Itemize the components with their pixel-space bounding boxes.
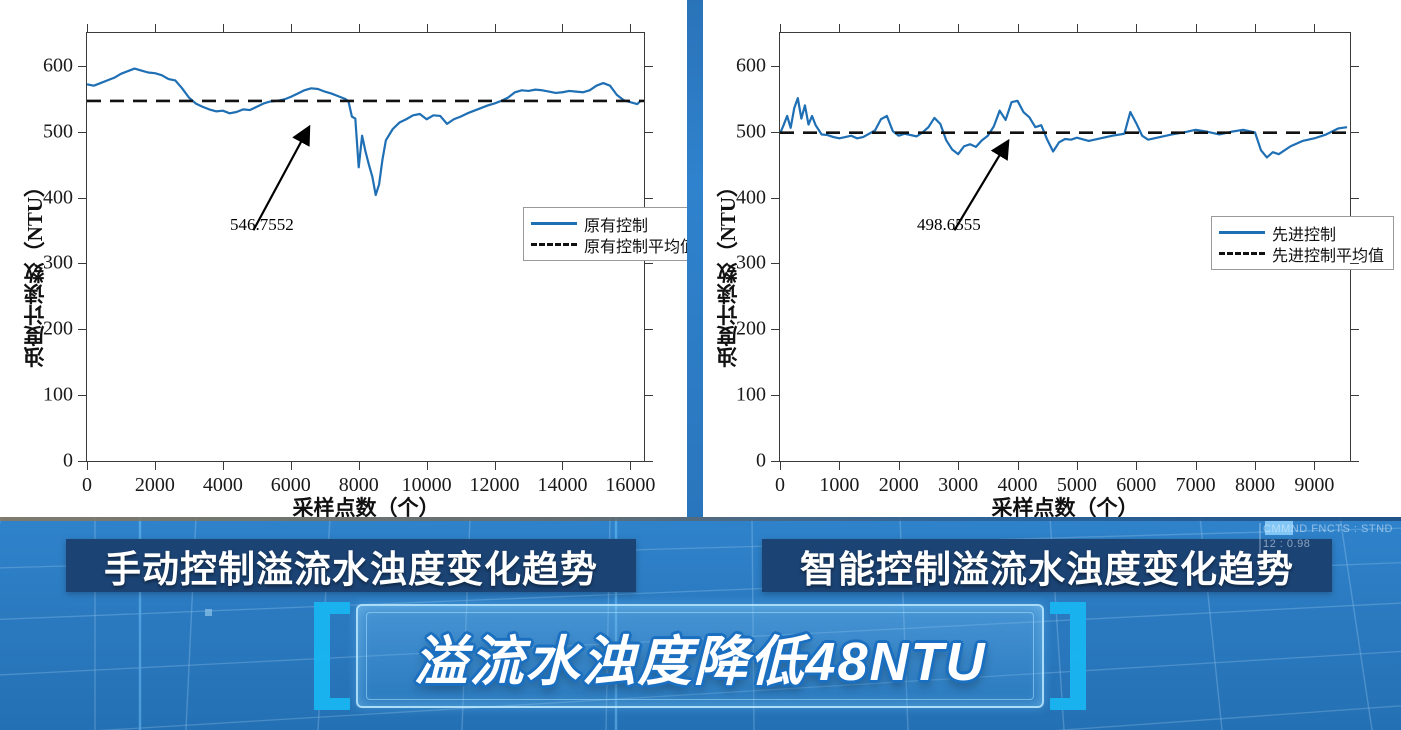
hud-line-1: CMMND FNCTS : STND <box>1263 523 1393 535</box>
y-tick <box>78 66 87 67</box>
banner-top-edge <box>0 517 1401 521</box>
y-tick <box>644 66 653 67</box>
legend-left[interactable]: 原有控制 原有控制平均值 <box>523 207 706 261</box>
x-tick-label: 12000 <box>470 474 520 497</box>
x-tick-label: 7000 <box>1176 474 1216 497</box>
y-tick-label: 100 <box>736 384 766 407</box>
y-tick <box>1350 461 1359 462</box>
y-tick-label: 300 <box>736 252 766 275</box>
caption-smart: 智能控制溢流水浊度变化趋势 <box>762 539 1332 592</box>
legend-right[interactable]: 先进控制 先进控制平均值 <box>1211 216 1394 270</box>
y-tick <box>78 461 87 462</box>
x-tick <box>630 24 631 33</box>
x-tick <box>495 24 496 33</box>
legend-line-solid-icon <box>531 222 577 225</box>
legend-label: 原有控制平均值 <box>584 233 696 257</box>
legend-row: 原有控制平均值 <box>531 234 696 255</box>
x-tick <box>780 461 781 470</box>
y-tick <box>1350 198 1359 199</box>
x-tick <box>223 461 224 470</box>
screenshot-root: 浊度计读数（NTU） 采样点数（个） <box>0 0 1401 730</box>
x-tick-label: 14000 <box>537 474 587 497</box>
y-tick-label: 200 <box>43 318 73 341</box>
y-tick <box>78 263 87 264</box>
hud-overlay: CMMND FNCTS : STND 12 : 0.98 <box>1263 523 1393 550</box>
x-tick-label: 4000 <box>998 474 1038 497</box>
x-tick <box>562 24 563 33</box>
x-tick <box>87 461 88 470</box>
x-tick <box>958 461 959 470</box>
y-tick <box>78 329 87 330</box>
y-tick <box>644 198 653 199</box>
legend-row: 先进控制平均值 <box>1219 243 1384 264</box>
x-tick <box>87 24 88 33</box>
y-tick <box>771 132 780 133</box>
x-tick <box>1196 24 1197 33</box>
hud-line-2: 12 : 0.98 <box>1263 538 1393 550</box>
x-tick <box>899 24 900 33</box>
y-tick <box>1350 329 1359 330</box>
x-tick <box>427 24 428 33</box>
x-tick <box>1077 24 1078 33</box>
y-tick <box>1350 66 1359 67</box>
y-tick-label: 600 <box>736 54 766 77</box>
y-tick <box>644 263 653 264</box>
x-tick-label: 8000 <box>1235 474 1275 497</box>
legend-row: 原有控制 <box>531 213 696 234</box>
x-tick <box>291 461 292 470</box>
annotation-value-left: 546.7552 <box>230 215 294 235</box>
x-tick-label: 2000 <box>879 474 919 497</box>
x-tick-label: 6000 <box>1116 474 1156 497</box>
hud-divider-icon <box>1259 523 1261 553</box>
charts-area: 浊度计读数（NTU） 采样点数（个） <box>0 0 1401 517</box>
headline-text: 溢流水浊度降低48NTU <box>300 598 1100 714</box>
y-tick-label: 500 <box>43 120 73 143</box>
x-tick-label: 3000 <box>938 474 978 497</box>
y-tick-label: 400 <box>736 186 766 209</box>
caption-manual: 手动控制溢流水浊度变化趋势 <box>66 539 636 592</box>
y-tick <box>78 132 87 133</box>
chart-panel-smart: 浊度计读数（NTU） 采样点数（个） <box>703 0 1401 517</box>
y-tick <box>1350 132 1359 133</box>
x-tick-label: 2000 <box>135 474 175 497</box>
x-tick-label: 10000 <box>402 474 452 497</box>
y-tick-label: 500 <box>736 120 766 143</box>
plot-area-smart: 先进控制 先进控制平均值 010020030040050060001000200… <box>779 32 1351 462</box>
x-tick-label: 6000 <box>271 474 311 497</box>
x-tick <box>223 24 224 33</box>
legend-label: 先进控制平均值 <box>1272 242 1384 266</box>
x-tick <box>839 461 840 470</box>
x-tick <box>427 461 428 470</box>
x-tick <box>780 24 781 33</box>
y-tick-label: 0 <box>63 450 73 473</box>
chart-panel-manual: 浊度计读数（NTU） 采样点数（个） <box>0 0 687 517</box>
legend-line-dashed-icon <box>531 243 577 246</box>
x-tick <box>155 461 156 470</box>
y-tick <box>1350 263 1359 264</box>
x-tick <box>630 461 631 470</box>
x-tick-label: 5000 <box>1057 474 1097 497</box>
x-tick <box>1018 461 1019 470</box>
x-tick <box>1255 461 1256 470</box>
x-tick <box>359 24 360 33</box>
figure-smart: 浊度计读数（NTU） 采样点数（个） <box>703 0 1401 517</box>
y-tick <box>771 263 780 264</box>
x-tick <box>291 24 292 33</box>
y-tick <box>771 198 780 199</box>
y-tick-label: 100 <box>43 384 73 407</box>
x-tick-label: 16000 <box>605 474 655 497</box>
legend-row: 先进控制 <box>1219 222 1384 243</box>
caption-smart-text: 智能控制溢流水浊度变化趋势 <box>800 539 1294 593</box>
legend-line-dashed-icon <box>1219 252 1265 255</box>
y-tick <box>78 198 87 199</box>
y-tick <box>644 329 653 330</box>
x-tick <box>839 24 840 33</box>
x-tick <box>495 461 496 470</box>
annotation-value-right: 498.6555 <box>917 215 981 235</box>
y-tick-label: 400 <box>43 186 73 209</box>
y-tick-label: 0 <box>756 450 766 473</box>
plot-area-manual: 原有控制 原有控制平均值 010020030040050060002000400… <box>86 32 645 462</box>
x-tick <box>1314 24 1315 33</box>
x-tick-label: 4000 <box>203 474 243 497</box>
y-tick <box>78 395 87 396</box>
y-tick <box>771 329 780 330</box>
figure-manual: 浊度计读数（NTU） 采样点数（个） <box>0 0 687 517</box>
x-tick <box>1196 461 1197 470</box>
x-tick <box>1077 461 1078 470</box>
x-tick <box>1136 24 1137 33</box>
x-tick <box>359 461 360 470</box>
legend-line-solid-icon <box>1219 231 1265 234</box>
y-tick-label: 200 <box>736 318 766 341</box>
x-tick-label: 1000 <box>819 474 859 497</box>
y-tick <box>644 132 653 133</box>
x-tick <box>899 461 900 470</box>
y-tick-label: 300 <box>43 252 73 275</box>
x-tick-label: 8000 <box>339 474 379 497</box>
x-tick <box>958 24 959 33</box>
x-tick <box>1018 24 1019 33</box>
x-tick <box>562 461 563 470</box>
x-tick <box>1314 461 1315 470</box>
y-tick <box>1350 395 1359 396</box>
x-tick <box>1255 24 1256 33</box>
x-tick <box>155 24 156 33</box>
x-tick-label: 0 <box>82 474 92 497</box>
y-tick <box>771 461 780 462</box>
y-tick-label: 600 <box>43 54 73 77</box>
y-tick <box>644 461 653 462</box>
x-tick <box>1136 461 1137 470</box>
y-tick <box>771 395 780 396</box>
caption-manual-text: 手动控制溢流水浊度变化趋势 <box>104 539 598 593</box>
x-tick-label: 9000 <box>1294 474 1334 497</box>
y-tick <box>771 66 780 67</box>
y-tick <box>644 395 653 396</box>
headline-banner: 溢流水浊度降低48NTU <box>300 598 1100 714</box>
panel-divider <box>687 0 703 517</box>
x-tick-label: 0 <box>775 474 785 497</box>
